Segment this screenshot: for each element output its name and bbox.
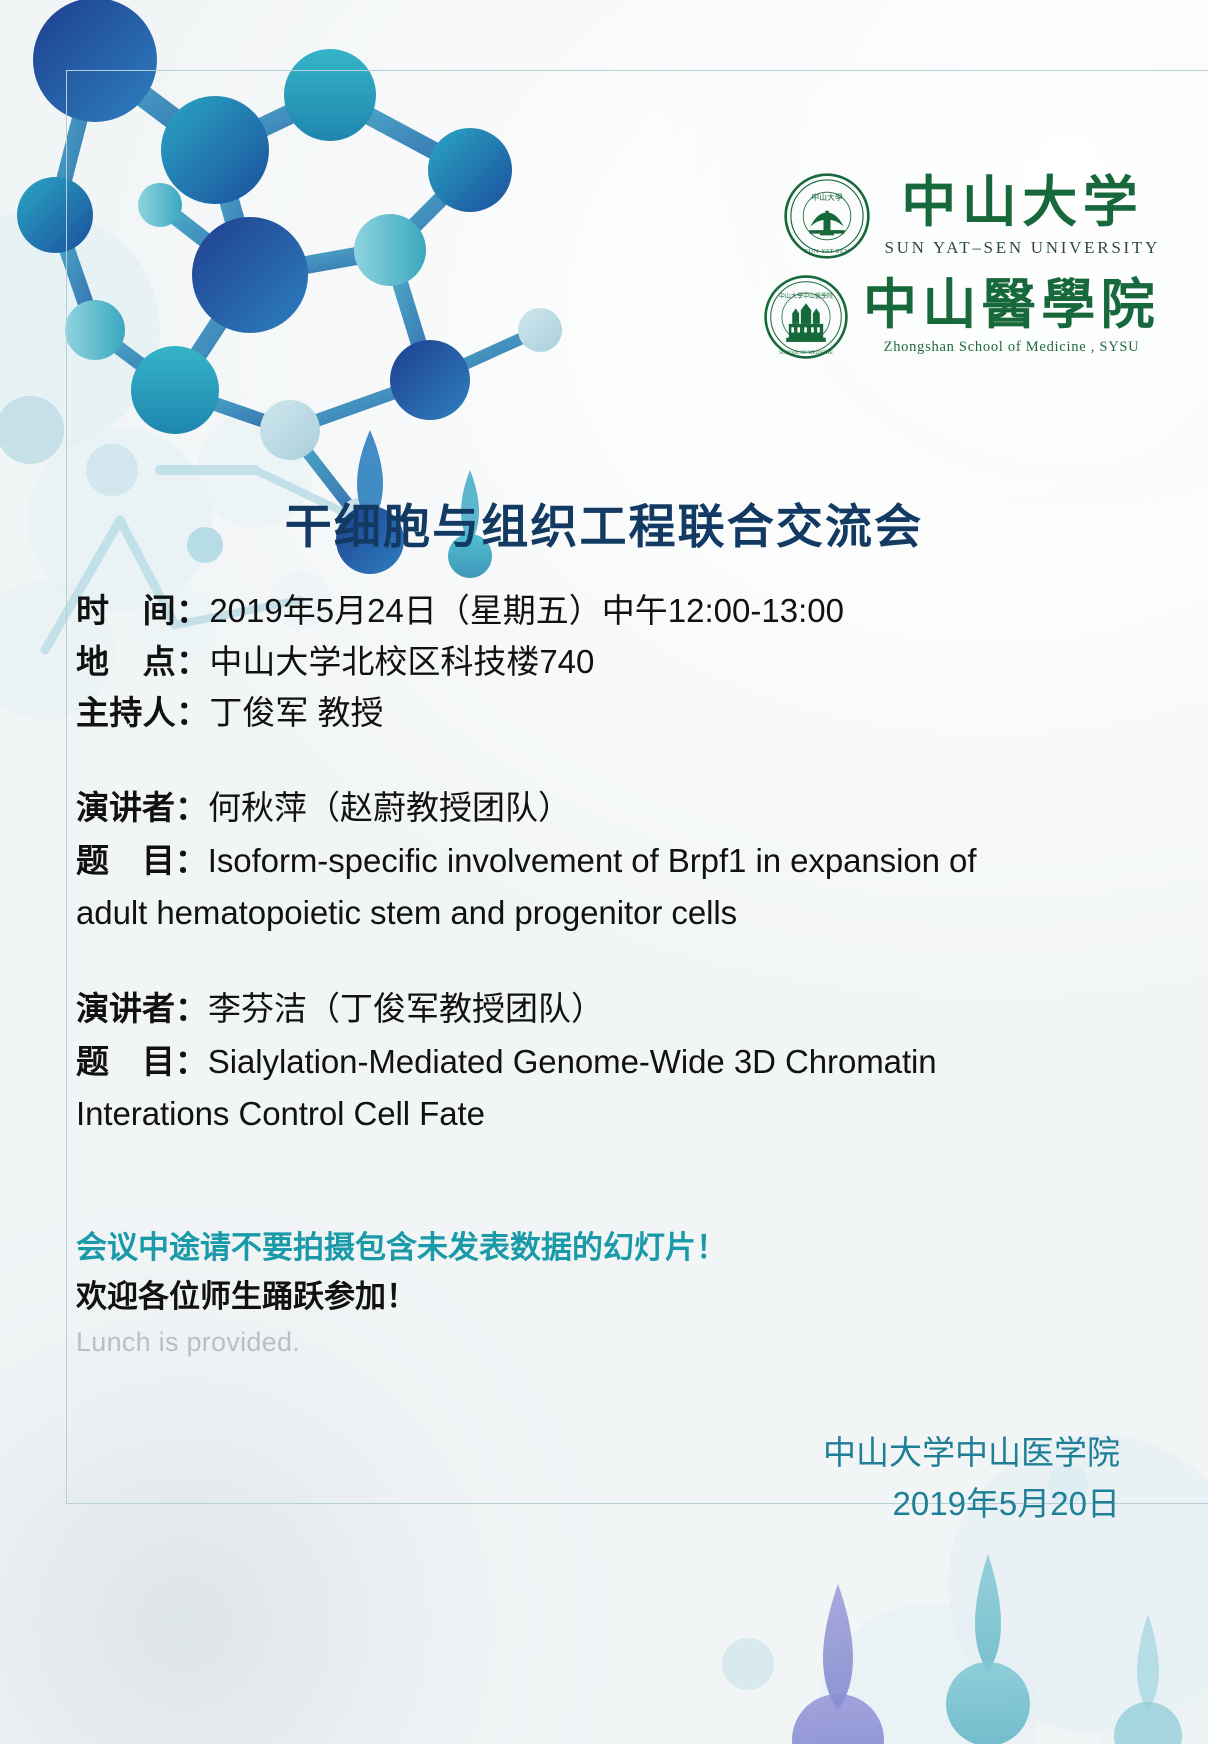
talk-2-speaker-row: 演讲者：李芬洁（丁俊军教授团队） [76, 983, 1016, 1036]
talk-1-speaker-value: 何秋萍（赵蔚教授团队） [208, 789, 571, 826]
spacer-before-notes [76, 1141, 1016, 1185]
talk-2-title-line2: Interations Control Cell Fate [76, 1088, 1016, 1140]
spacer-before-notes-2 [76, 1185, 1016, 1223]
logo-zssom: 中山大學中山醫學院 SCHOOL OF MEDICINE 中山醫學院 Zhong… [763, 274, 1160, 360]
poster-canvas: 中山大學 SUN YAT-SEN 中山大学 SUN YAT–SEN UNIVER… [0, 0, 1208, 1744]
note-welcome: 欢迎各位师生踊跃参加！ [76, 1272, 1016, 1322]
logo-sysu: 中山大學 SUN YAT-SEN 中山大学 SUN YAT–SEN UNIVER… [783, 172, 1161, 260]
talk-1-speaker-label: 演讲者： [76, 789, 208, 826]
info-value-host: 丁俊军 教授 [209, 694, 383, 731]
talk-2-speaker-label: 演讲者： [76, 990, 208, 1027]
svg-text:中山大學: 中山大學 [811, 192, 843, 202]
info-value-time: 2019年5月24日（星期五）中午12:00-13:00 [209, 592, 844, 629]
note-no-photo: 会议中途请不要拍摄包含未发表数据的幻灯片！ [76, 1223, 1016, 1273]
info-row-time: 时 间：2019年5月24日（星期五）中午12:00-13:00 [76, 585, 1016, 636]
spacer-between-talks [76, 939, 1016, 983]
svg-text:中山大學中山醫學院: 中山大學中山醫學院 [779, 292, 833, 300]
svg-text:SUN YAT-SEN: SUN YAT-SEN [804, 249, 850, 255]
talk-1-speaker-row: 演讲者：何秋萍（赵蔚教授团队） [76, 782, 1016, 835]
talk-1-title-line1: 题 目：Isoform-specific involvement of Brpf… [76, 835, 1016, 887]
info-value-location: 中山大学北校区科技楼740 [209, 643, 594, 680]
poster-body: 时 间：2019年5月24日（星期五）中午12:00-13:00 地 点：中山大… [76, 585, 1016, 1362]
talk-1-title-text1: Isoform-specific involvement of Brpf1 in… [208, 842, 977, 879]
info-label-location: 地 点： [76, 643, 209, 680]
logo-sysu-cn: 中山大学 [901, 175, 1143, 230]
footer-date: 2019年5月20日 [823, 1478, 1120, 1529]
talk-1-title-line2: adult hematopoietic stem and progenitor … [76, 887, 1016, 939]
svg-text:SCHOOL OF MEDICINE: SCHOOL OF MEDICINE [779, 351, 833, 356]
talk-2-title-text1: Sialylation-Mediated Genome-Wide 3D Chro… [208, 1043, 937, 1080]
info-label-host: 主持人： [76, 694, 209, 731]
poster-footer: 中山大学中山医学院 2019年5月20日 [823, 1427, 1120, 1529]
poster-title: 干细胞与组织工程联合交流会 [0, 500, 1208, 554]
zssom-seal-icon: 中山大學中山醫學院 SCHOOL OF MEDICINE [763, 274, 849, 360]
logo-sysu-en: SUN YAT–SEN UNIVERSITY [885, 238, 1161, 258]
info-row-location: 地 点：中山大学北校区科技楼740 [76, 636, 1016, 687]
talk-1-title-label: 题 目： [76, 842, 208, 879]
footer-organization: 中山大学中山医学院 [823, 1427, 1120, 1478]
sysu-seal-icon: 中山大學 SUN YAT-SEN [783, 172, 871, 260]
logo-zssom-cn: 中山醫學院 [863, 278, 1160, 332]
note-lunch: Lunch is provided. [76, 1322, 1016, 1363]
info-row-host: 主持人：丁俊军 教授 [76, 687, 1016, 738]
info-label-time: 时 间： [76, 592, 209, 629]
spacer-after-info [76, 738, 1016, 782]
talk-2-speaker-value: 李芬洁（丁俊军教授团队） [208, 990, 604, 1027]
logo-group: 中山大學 SUN YAT-SEN 中山大学 SUN YAT–SEN UNIVER… [763, 172, 1160, 360]
talk-2-title-label: 题 目： [76, 1043, 208, 1080]
logo-zssom-en: Zhongshan School of Medicine , SYSU [884, 339, 1140, 356]
talk-2-title-line1: 题 目：Sialylation-Mediated Genome-Wide 3D … [76, 1036, 1016, 1088]
